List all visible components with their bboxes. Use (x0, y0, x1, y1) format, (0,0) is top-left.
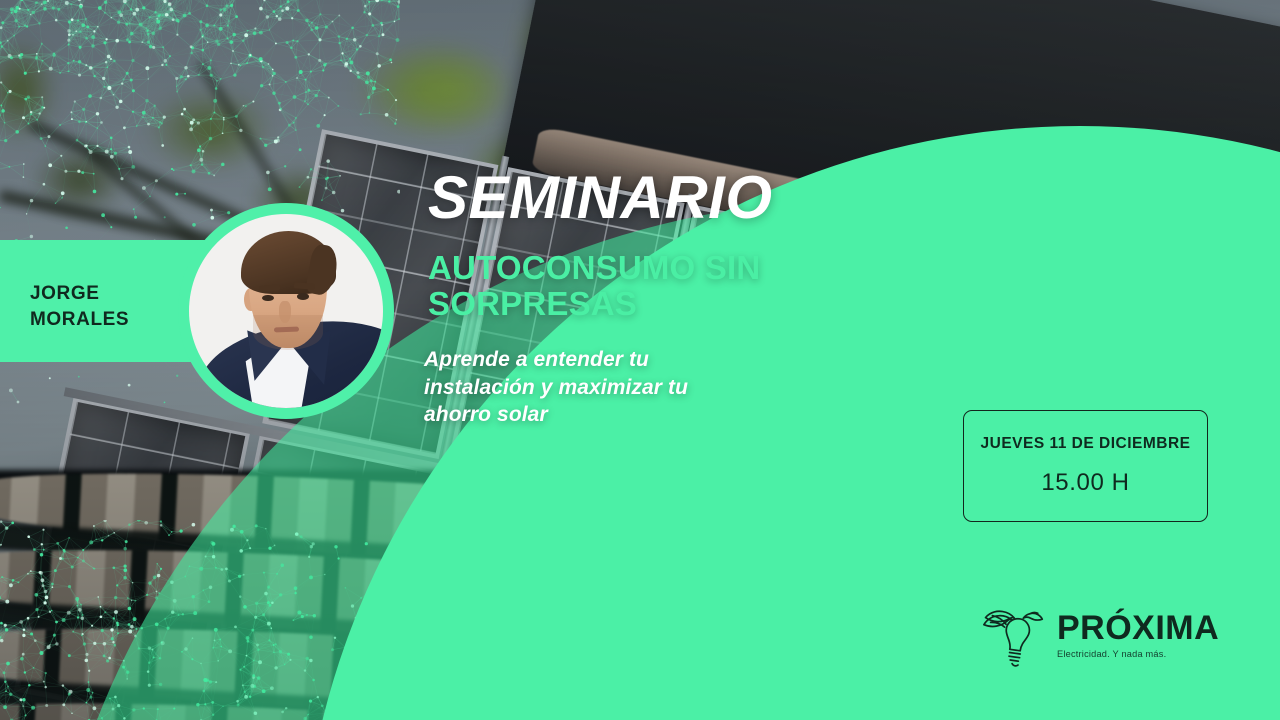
avatar (178, 203, 394, 419)
logo-wordmark: PRÓXIMA Electricidad. Y nada más. (1057, 605, 1219, 659)
speaker-first-name: JORGE (30, 281, 190, 307)
page-subtitle: AUTOCONSUMO SIN SORPRESAS (428, 250, 828, 323)
speaker-name: JORGE MORALES (30, 281, 190, 333)
event-datetime-box: JUEVES 11 DE DICIEMBRE 15.00 H (963, 410, 1208, 522)
event-time: 15.00 H (1041, 469, 1129, 497)
logo-name: PRÓXIMA (1057, 611, 1219, 645)
logo-slogan: Electricidad. Y nada más. (1057, 650, 1219, 659)
brand-logo: PRÓXIMA Electricidad. Y nada más. (983, 592, 1198, 672)
portrait-nose (279, 301, 291, 322)
page-title: SEMINARIO (428, 168, 773, 228)
page-tagline: Aprende a entender tu instalación y maxi… (424, 346, 754, 429)
avatar-photo (189, 214, 383, 408)
lightbulb-bee-icon (983, 595, 1049, 669)
event-date: JUEVES 11 DE DICIEMBRE (981, 435, 1191, 453)
speaker-last-name: MORALES (30, 307, 190, 333)
seminar-promo-banner: JORGE MORALES SEMINARIO AUTOCONSUMO SIN … (0, 0, 1280, 720)
